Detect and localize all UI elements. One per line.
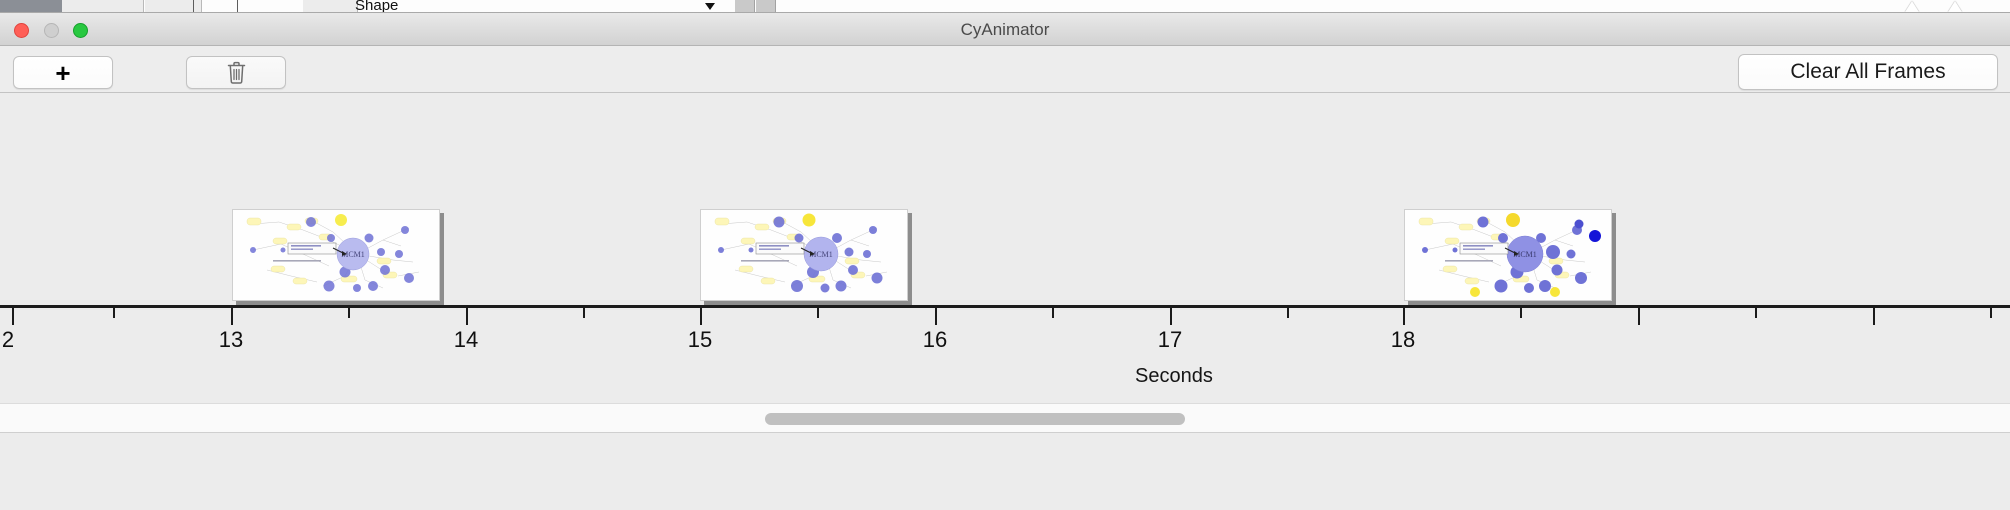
axis-tick-major (1638, 308, 1640, 325)
axis-tick-label: 18 (1391, 327, 1415, 353)
plus-icon: + (55, 60, 70, 86)
background-cell (303, 0, 358, 13)
background-tick (237, 0, 238, 13)
background-triangle-icon (1948, 1, 1962, 12)
background-caret-icon (705, 3, 715, 10)
axis-tick-minor (113, 308, 115, 318)
cyanimator-window: Shape CyAnimator + Clear All Frames (0, 0, 2010, 510)
axis-tick-label: 16 (923, 327, 947, 353)
background-cell (735, 0, 755, 13)
playback-controls: Animation Speed: (0, 433, 2010, 510)
axis-tick-major (935, 308, 937, 325)
axis-tick-minor (1755, 308, 1757, 318)
axis-tick-minor (817, 308, 819, 318)
window-title: CyAnimator (0, 13, 2010, 46)
axis-tick-major (1170, 308, 1172, 325)
timeline-scrollbar-thumb[interactable] (765, 413, 1185, 425)
axis-tick-minor (583, 308, 585, 318)
clear-all-frames-button[interactable]: Clear All Frames (1738, 54, 1998, 90)
axis-tick-minor (1052, 308, 1054, 318)
background-dark-cell (0, 0, 62, 13)
axis-tick-label: 14 (454, 327, 478, 353)
axis-tick-label: 2 (2, 327, 14, 353)
axis-tick-major (700, 308, 702, 325)
axis-tick-minor (348, 308, 350, 318)
add-frame-button[interactable]: + (13, 56, 113, 89)
clear-all-frames-label: Clear All Frames (1790, 60, 1945, 84)
timeline-frame-3[interactable]: MCM1 (1404, 209, 1616, 305)
delete-frame-button[interactable] (186, 56, 286, 89)
title-bar: CyAnimator (0, 13, 2010, 46)
timeline-frame-2[interactable]: MCM1 (700, 209, 912, 305)
trash-icon (227, 61, 246, 84)
axis-tick-minor (1520, 308, 1522, 318)
axis-tick-label: 17 (1158, 327, 1182, 353)
axis-tick-major (466, 308, 468, 325)
background-cell (62, 0, 144, 13)
axis-tick-label: 15 (688, 327, 712, 353)
axis-tick-minor (1990, 308, 1992, 318)
timeline-scrollbar[interactable] (0, 403, 2010, 433)
timeline-frame-1[interactable]: MCM1 (232, 209, 444, 305)
timeline-panel[interactable]: MCM1 (0, 93, 2010, 403)
frame-thumbnail: MCM1 (700, 209, 908, 301)
background-triangle-icon (1905, 1, 1919, 12)
background-tick (193, 0, 194, 13)
background-cell (756, 0, 776, 13)
background-window-strip: Shape (0, 0, 2010, 13)
axis-tick-major (12, 308, 14, 325)
frame-thumbnail: MCM1 (232, 209, 440, 301)
axis-tick-major (231, 308, 233, 325)
axis-title: Seconds (1135, 365, 1213, 388)
axis-tick-minor (1287, 308, 1289, 318)
background-window-label: Shape (355, 0, 398, 13)
axis-tick-major (1403, 308, 1405, 325)
frame-thumbnail: MCM1 (1404, 209, 1612, 301)
axis-tick-major (1873, 308, 1875, 325)
timeline-axis (0, 305, 2010, 308)
toolbar: + Clear All Frames (0, 46, 2010, 93)
axis-tick-label: 13 (219, 327, 243, 353)
